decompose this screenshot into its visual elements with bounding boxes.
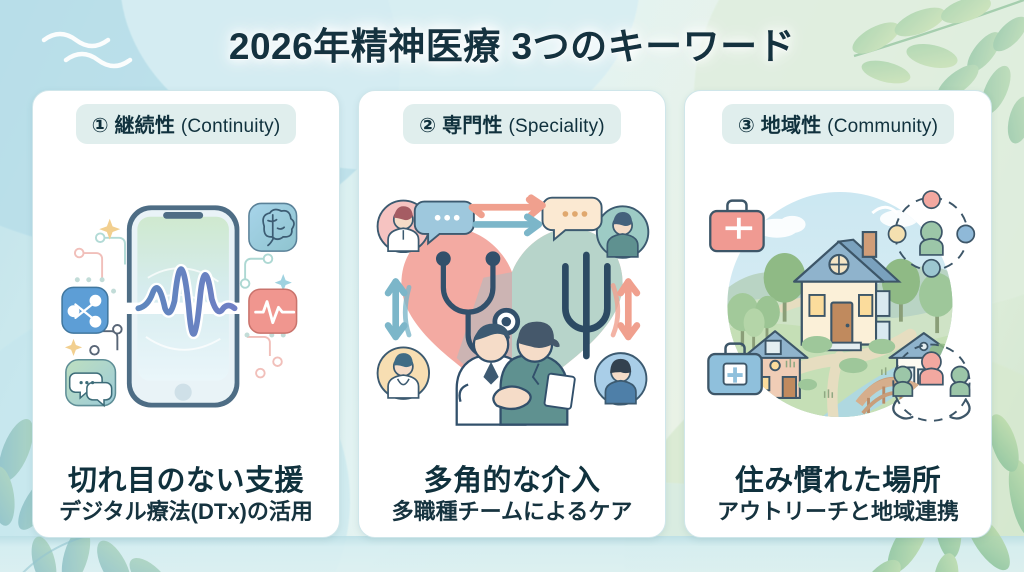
card-number: ③ xyxy=(738,115,755,137)
brain-icon xyxy=(249,203,297,251)
keyword-card-list: ① 継続性 (Continuity) xyxy=(0,90,1024,538)
card-keyword-ja: 継続性 xyxy=(114,115,175,137)
community-village-illustration xyxy=(695,146,981,465)
chat-bubbles-icon xyxy=(66,360,116,406)
supporting-hands-icon xyxy=(893,345,969,421)
card-subline: 多職種チームによるケア xyxy=(369,500,655,525)
card-footer-speciality: 多角的な介入 多職種チームによるケア xyxy=(369,465,655,525)
card-subline: デジタル療法(DTx)の活用 xyxy=(43,500,329,525)
keyword-card-speciality[interactable]: ② 専門性 (Speciality) xyxy=(358,90,666,538)
infographic-canvas: 2026年精神医療 3つのキーワード ① 継続性 (Continuity) xyxy=(0,0,1024,572)
card-headline: 切れ目のない支援 xyxy=(43,465,329,497)
avatar-circle-patient xyxy=(595,353,646,404)
page-title: 2026年精神医療 3つのキーワード xyxy=(0,16,1024,70)
heart-rate-icon xyxy=(249,289,297,333)
card-footer-continuity: 切れ目のない支援 デジタル療法(DTx)の活用 xyxy=(43,465,329,525)
card-header-community: ③ 地域性 (Community) xyxy=(722,104,954,144)
exchange-arrow-icon xyxy=(388,282,409,337)
card-header-speciality: ② 専門性 (Speciality) xyxy=(403,104,621,144)
card-keyword-en: (Speciality) xyxy=(508,116,604,137)
card-keyword-ja: 専門性 xyxy=(442,115,503,137)
exchange-arrow-icon xyxy=(613,282,637,337)
exchange-arrow-icon xyxy=(472,198,543,233)
card-keyword-ja: 地域性 xyxy=(761,115,822,137)
card-number: ① xyxy=(92,115,109,137)
card-keyword-en: (Continuity) xyxy=(181,116,281,137)
card-headline: 多角的な介入 xyxy=(369,465,655,497)
card-headline: 住み慣れた場所 xyxy=(695,465,981,497)
card-number: ② xyxy=(419,115,436,137)
card-header-continuity: ① 継続性 (Continuity) xyxy=(76,104,297,144)
share-network-icon xyxy=(62,287,108,333)
card-subline: アウトリーチと地域連携 xyxy=(695,500,981,525)
keyword-card-continuity[interactable]: ① 継続性 (Continuity) xyxy=(32,90,340,538)
keyword-card-community[interactable]: ③ 地域性 (Community) xyxy=(684,90,992,538)
avatar-circle-staff xyxy=(597,206,648,257)
smartphone-waveform-illustration xyxy=(43,146,329,465)
first-aid-kit-red-icon xyxy=(710,201,763,252)
card-footer-community: 住み慣れた場所 アウトリーチと地域連携 xyxy=(695,465,981,525)
team-heart-handshake-illustration xyxy=(369,146,655,465)
avatar-circle-doctor xyxy=(378,347,429,398)
card-keyword-en: (Community) xyxy=(827,116,938,137)
